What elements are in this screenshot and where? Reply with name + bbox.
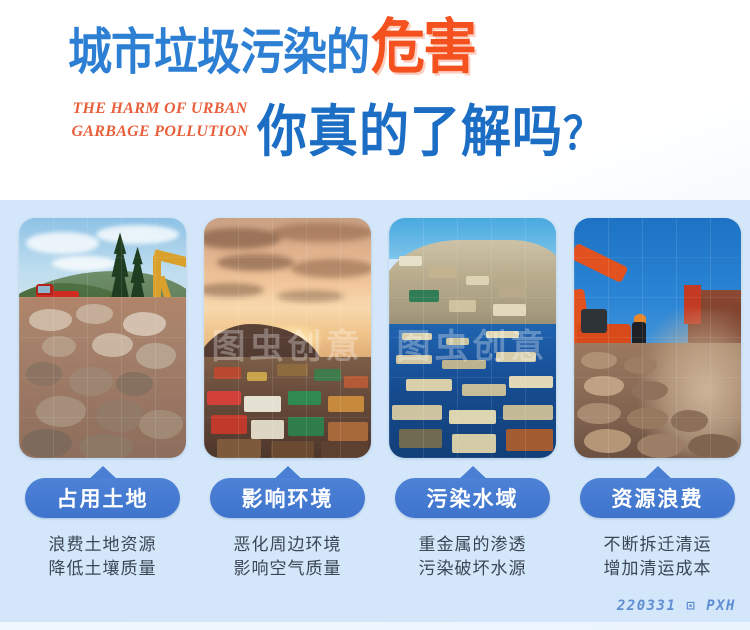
description-line-2: 降低土壤质量 xyxy=(19,557,186,581)
badge-label: 影响环境 xyxy=(210,478,365,518)
badge-environment-impact[interactable]: 影响环境 xyxy=(204,466,371,518)
description-line-1: 浪费土地资源 xyxy=(49,535,157,555)
description-water-pollution: 重金属的渗透 污染破坏水源 xyxy=(389,533,556,581)
photo-card-land xyxy=(19,218,186,458)
photo-landfill-sunset: 图虫创意 xyxy=(204,218,371,458)
badge-label: 占用土地 xyxy=(25,478,180,518)
description-resource-waste: 不断拆迁清运 增加清运成本 xyxy=(574,533,741,581)
photo-card-resource xyxy=(574,218,741,458)
description-line-1: 不断拆迁清运 xyxy=(604,535,712,555)
photo-water-pollution: 图虫创意 xyxy=(389,218,556,458)
headline-primary-text: 城市垃圾污染的 xyxy=(68,29,369,78)
description-line-2: 影响空气质量 xyxy=(204,557,371,581)
poster-header: 城市垃圾污染的 危害 THE HARM OF URBAN GARBAGE POL… xyxy=(0,0,750,200)
description-line-2: 增加清运成本 xyxy=(574,557,741,581)
headline-line-2: 你真的了解吗？ xyxy=(257,104,604,160)
badge-label: 污染水域 xyxy=(395,478,550,518)
description-land-occupation: 浪费土地资源 降低土壤质量 xyxy=(19,533,186,581)
badge-label: 资源浪费 xyxy=(580,478,735,518)
photo-demolition xyxy=(574,218,741,458)
photo-land-occupation xyxy=(19,218,186,458)
description-environment-impact: 恶化周边环境 影响空气质量 xyxy=(204,533,371,581)
photo-card-row: 图虫创意 xyxy=(0,218,750,458)
headline-line-2-text: 你真的了解吗 xyxy=(257,100,563,165)
badge-resource-waste[interactable]: 资源浪费 xyxy=(574,466,741,518)
headline-line-1: 城市垃圾污染的 危害 xyxy=(68,26,471,78)
photo-card-environment: 图虫创意 xyxy=(204,218,371,458)
headline-question-mark: ？ xyxy=(563,108,604,160)
photo-card-water: 图虫创意 xyxy=(389,218,556,458)
description-line-1: 恶化周边环境 xyxy=(234,535,342,555)
description-line-2: 污染破坏水源 xyxy=(389,557,556,581)
english-subtitle: THE HARM OF URBAN GARBAGE POLLUTION xyxy=(70,98,250,143)
badge-water-pollution[interactable]: 污染水域 xyxy=(389,466,556,518)
badge-land-occupation[interactable]: 占用土地 xyxy=(19,466,186,518)
infographic-poster: 城市垃圾污染的 危害 THE HARM OF URBAN GARBAGE POL… xyxy=(0,0,750,630)
description-line-1: 重金属的渗透 xyxy=(419,535,527,555)
headline-highlight-text: 危害 xyxy=(371,18,475,78)
footer-watermark: 220331 ⊡ PXH xyxy=(617,598,736,614)
